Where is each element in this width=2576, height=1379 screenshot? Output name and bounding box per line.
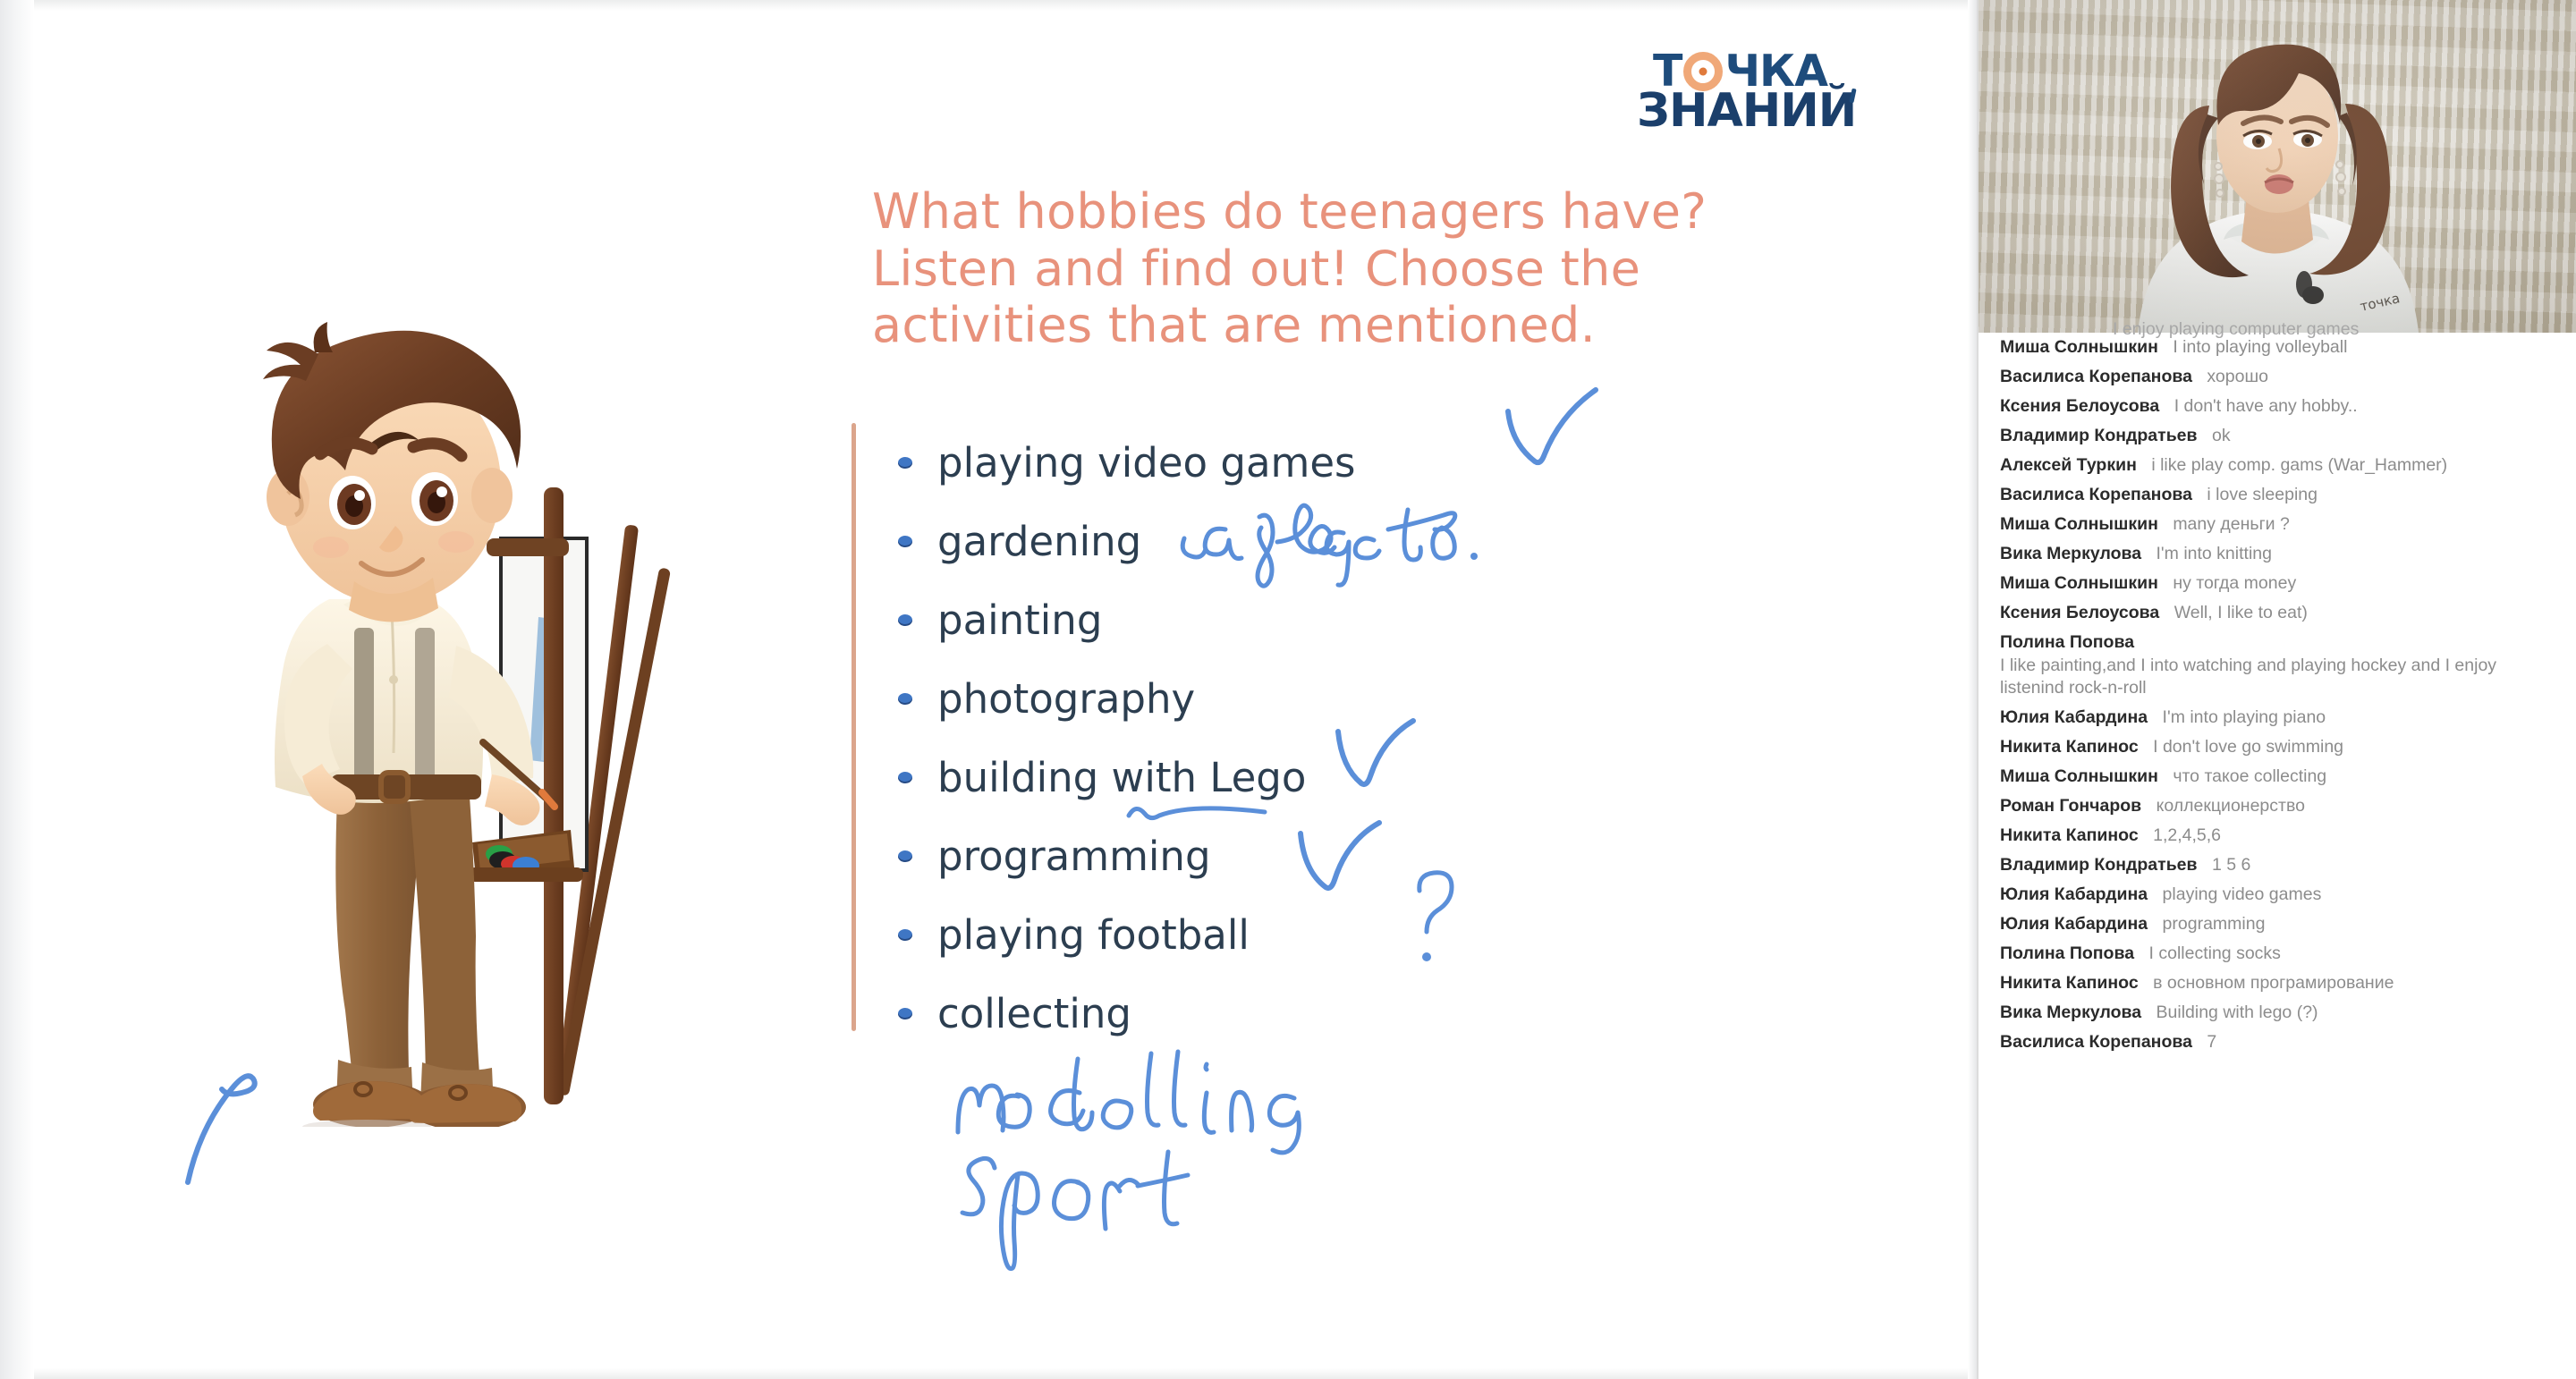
- chat-text: коллекционерство: [2157, 796, 2305, 816]
- chat-author: Роман Гончаров: [2000, 796, 2141, 816]
- chat-author: Ксения Белоусова: [2000, 603, 2159, 622]
- chat-message[interactable]: Полина Попова I collecting socks: [1991, 939, 2563, 969]
- chat-author: Ксения Белоусова: [2000, 396, 2159, 416]
- list-item[interactable]: painting: [898, 580, 1478, 659]
- chat-author: Миша Солнышкин: [2000, 514, 2158, 534]
- chat-message[interactable]: Владимир Кондратьев ok: [1991, 421, 2563, 451]
- video-vignette: [1979, 0, 2576, 333]
- chat-message[interactable]: Миша Солнышкин many деньги ?: [1991, 510, 2563, 539]
- logo-target-icon: [1683, 52, 1723, 91]
- screen: Т ЧКА ЗНАНИЙ What hobbies do teenagers h…: [0, 0, 2576, 1379]
- chat-message[interactable]: Миша Солнышкин что такое collecting: [1991, 762, 2563, 791]
- chat-text: ну тогда money: [2173, 573, 2296, 593]
- chat-message[interactable]: Никита Капинос в основном програмировани…: [1991, 969, 2563, 998]
- chat-author: Никита Капинос: [2000, 973, 2139, 993]
- chat-text: 7: [2207, 1032, 2216, 1052]
- brand-logo: Т ЧКА ЗНАНИЙ: [1637, 49, 1869, 148]
- chat-text: что такое collecting: [2173, 766, 2326, 786]
- chat-author: Василиса Корепанова: [2000, 367, 2192, 386]
- chat-text: playing video games: [2163, 884, 2322, 904]
- chat-author: Миша Солнышкин: [2000, 573, 2158, 593]
- chat-author: Юлия Кабардина: [2000, 707, 2148, 727]
- chat-text: I collecting socks: [2149, 943, 2281, 963]
- slide-edge-right: [1968, 0, 1977, 1379]
- activity-label: playing football: [937, 911, 1250, 959]
- webcam-video-tile[interactable]: точка: [1979, 0, 2576, 333]
- list-item[interactable]: collecting: [898, 974, 1478, 1053]
- chat-message[interactable]: Юлия Кабардина programming: [1991, 909, 2563, 939]
- bullet-dot-icon: [898, 536, 912, 547]
- chat-message-list[interactable]: Миша Солнышкин I into playing volleyball…: [1979, 333, 2576, 1379]
- chat-message[interactable]: Полина Попова I like painting,and I into…: [1991, 628, 2563, 704]
- chat-author: Владимир Кондратьев: [2000, 855, 2198, 875]
- chat-text: many деньги ?: [2173, 514, 2290, 534]
- chat-text: I don't love go swimming: [2153, 737, 2343, 757]
- chat-author: Василиса Корепанова: [2000, 1032, 2192, 1052]
- sidebar-panel: точка: [1977, 0, 2576, 1379]
- list-accent-rule: [852, 423, 856, 1031]
- bullet-dot-icon: [898, 457, 912, 469]
- chat-author: Алексей Туркин: [2000, 455, 2137, 475]
- chat-author: Никита Капинос: [2000, 825, 2139, 845]
- chat-author: Полина Попова: [2000, 632, 2134, 652]
- chat-text: I enjoy playing computer games: [2009, 319, 2359, 339]
- paint-tray: [469, 830, 583, 882]
- chat-author: Владимир Кондратьев: [2000, 426, 2198, 445]
- chat-text: I like painting,and I into watching and …: [2000, 655, 2563, 699]
- chat-message[interactable]: Никита Капинос I don't love go swimming: [1991, 732, 2563, 762]
- list-item[interactable]: playing football: [898, 895, 1478, 974]
- chat-author: Никита Капинос: [2000, 737, 2139, 757]
- chat-text: I don't have any hobby..: [2174, 396, 2358, 416]
- chat-message[interactable]: Никита Капинос 1,2,4,5,6: [1991, 821, 2563, 850]
- list-item[interactable]: building with Lego: [898, 738, 1478, 816]
- activity-label: building with Lego: [937, 754, 1306, 801]
- logo-line-znaniy: ЗНАНИЙ: [1637, 88, 1869, 134]
- slide-edge-left: [0, 0, 34, 1379]
- chat-message[interactable]: Юлия Кабардина playing video games: [1991, 880, 2563, 909]
- bullet-dot-icon: [898, 929, 912, 941]
- chat-message[interactable]: Владимир Кондратьев 1 5 6: [1991, 850, 2563, 880]
- list-item[interactable]: programming: [898, 816, 1478, 895]
- chat-text: ok: [2212, 426, 2231, 445]
- chat-text: I'm into playing piano: [2163, 707, 2326, 727]
- chat-message-partial: I enjoy playing computer games: [2000, 315, 2572, 344]
- chat-text: 1 5 6: [2212, 855, 2250, 875]
- activities-items: playing video games gardening painting p…: [852, 423, 1478, 1053]
- chat-message[interactable]: Юлия Кабардина I'm into playing piano: [1991, 703, 2563, 732]
- activity-label: programming: [937, 833, 1211, 880]
- bullet-dot-icon: [898, 614, 912, 626]
- chat-text: i like play comp. gams (War_Hammer): [2151, 455, 2447, 475]
- list-item[interactable]: gardening: [898, 502, 1478, 580]
- chat-author: Юлия Кабардина: [2000, 914, 2148, 934]
- chat-author: Юлия Кабардина: [2000, 884, 2148, 904]
- chat-text: i love sleeping: [2207, 485, 2318, 504]
- chat-text: хорошо: [2207, 367, 2268, 386]
- boy-head: [263, 322, 521, 622]
- chat-message[interactable]: Василиса Корепанова 7: [1991, 1028, 2563, 1057]
- activity-label: collecting: [937, 990, 1131, 1037]
- chat-author: Вика Меркулова: [2000, 1003, 2141, 1022]
- chat-message[interactable]: Вика Меркулова Building with lego (?): [1991, 998, 2563, 1028]
- chat-message[interactable]: Василиса Корепанова i love sleeping: [1991, 480, 2563, 510]
- bullet-dot-icon: [898, 772, 912, 783]
- chat-text: Building with lego (?): [2157, 1003, 2318, 1022]
- activity-label: playing video games: [937, 439, 1356, 486]
- chat-text: I'm into knitting: [2157, 544, 2272, 563]
- chat-author: Миша Солнышкин: [2000, 766, 2158, 786]
- page-title: What hobbies do teenagers have? Listen a…: [872, 183, 1767, 354]
- chat-text: programming: [2163, 914, 2266, 934]
- chat-message[interactable]: Алексей Туркин i like play comp. gams (W…: [1991, 451, 2563, 480]
- chat-message[interactable]: Вика Меркулова I'm into knitting: [1991, 539, 2563, 569]
- chat-author: Василиса Корепанова: [2000, 485, 2192, 504]
- chat-text: в основном програмирование: [2153, 973, 2394, 993]
- activity-label: photography: [937, 675, 1195, 723]
- chat-text: 1,2,4,5,6: [2153, 825, 2221, 845]
- slide-edge-bottom: [0, 1368, 1977, 1379]
- chat-author: Вика Меркулова: [2000, 544, 2141, 563]
- list-item[interactable]: playing video games: [898, 423, 1478, 502]
- activity-label: gardening: [937, 518, 1141, 565]
- activities-list: playing video games gardening painting p…: [852, 423, 1478, 1053]
- boy-painting-illustration: [188, 295, 724, 1127]
- chat-message[interactable]: Ксения Белоусова I don't have any hobby.…: [1991, 392, 2563, 421]
- ink-checkmark-video-games: [1503, 386, 1601, 494]
- bullet-dot-icon: [898, 693, 912, 705]
- ink-handwriting-sport: [957, 1136, 1207, 1270]
- chat-message[interactable]: Роман Гончаров коллекционерство: [1991, 791, 2563, 821]
- activity-label: painting: [937, 596, 1102, 644]
- chat-message[interactable]: Миша Солнышкин ну тогда money: [1991, 569, 2563, 598]
- boy-lower-body: [302, 778, 526, 1127]
- chat-text: Well, I like to eat): [2174, 603, 2308, 622]
- presentation-slide: Т ЧКА ЗНАНИЙ What hobbies do teenagers h…: [0, 0, 1977, 1379]
- list-item[interactable]: photography: [898, 659, 1478, 738]
- ink-handwriting-modelling: [953, 1046, 1310, 1145]
- slide-edge-top: [0, 0, 1977, 11]
- chat-message[interactable]: Василиса Корепанова хорошо: [1991, 362, 2563, 392]
- chat-author: Полина Попова: [2000, 943, 2134, 963]
- bullet-dot-icon: [898, 850, 912, 862]
- bullet-dot-icon: [898, 1008, 912, 1019]
- chat-message[interactable]: Ксения Белоусова Well, I like to eat): [1991, 598, 2563, 628]
